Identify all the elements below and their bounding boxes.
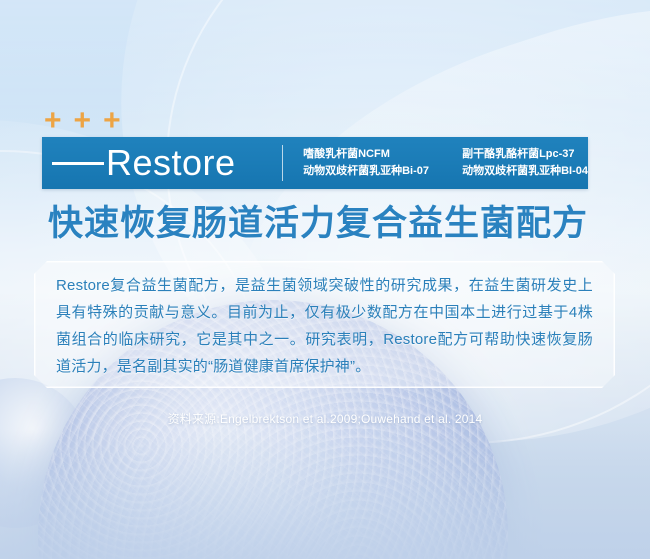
brand-bar: Restore 嗜酸乳杆菌NCFM 副干酪乳酪杆菌Lpc-37 动物双歧杆菌乳亚… <box>42 137 588 189</box>
strain-list: 嗜酸乳杆菌NCFM 副干酪乳酪杆菌Lpc-37 动物双歧杆菌乳亚种Bi-07 动… <box>283 148 588 177</box>
brand-name: Restore <box>106 145 236 181</box>
page-title: 快速恢复肠道活力复合益生菌配方 <box>48 203 588 245</box>
probiotic-poster: + + + Restore 嗜酸乳杆菌NCFM 副干酪乳酪杆菌Lpc-37 动物… <box>0 0 650 559</box>
source-citation: 资料来源:Engelbrektson et al.2009;Ouwehand e… <box>0 410 650 427</box>
strain-item: 动物双歧杆菌乳亚种BI-04 <box>462 165 588 178</box>
strain-item: 嗜酸乳杆菌NCFM <box>303 148 448 161</box>
brand-left-group: Restore <box>42 145 282 181</box>
em-dash-rule-icon <box>52 162 104 165</box>
poster-content: + + + Restore 嗜酸乳杆菌NCFM 副干酪乳酪杆菌Lpc-37 动物… <box>0 0 650 559</box>
plus-icon-2: + <box>74 106 92 136</box>
body-paragraph: Restore复合益生菌配方，是益生菌领域突破性的研究成果，在益生菌研发史上具有… <box>56 272 593 380</box>
plus-icon-1: + <box>44 106 62 136</box>
plus-icon-3: + <box>103 106 121 136</box>
plus-decoration: + + + <box>44 106 121 136</box>
strain-item: 动物双歧杆菌乳亚种Bi-07 <box>303 165 448 178</box>
strain-item: 副干酪乳酪杆菌Lpc-37 <box>462 148 588 161</box>
body-text-container: Restore复合益生菌配方，是益生菌领域突破性的研究成果，在益生菌研发史上具有… <box>34 261 615 388</box>
